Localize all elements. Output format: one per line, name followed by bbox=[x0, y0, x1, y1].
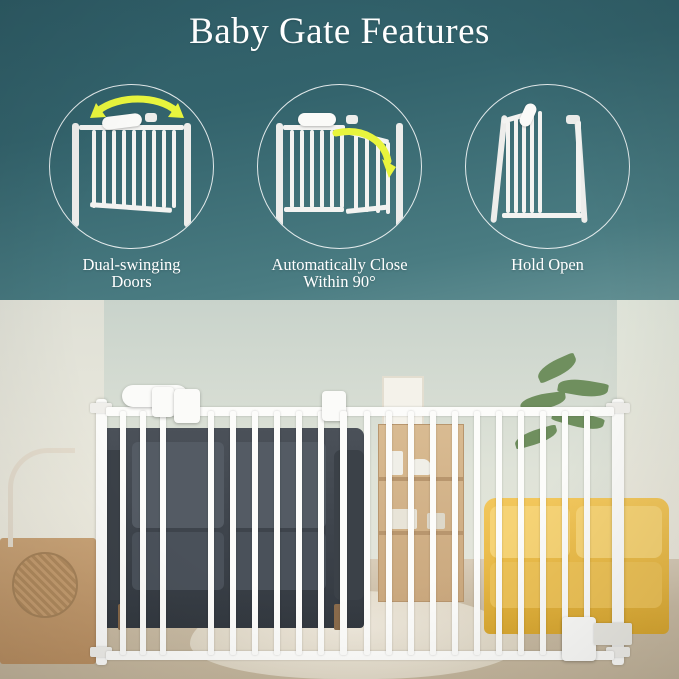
white-baby-gate bbox=[96, 385, 624, 665]
feature-icon-circle-3 bbox=[465, 84, 630, 249]
feature-automatically-close: Automatically Close Within 90° bbox=[247, 84, 433, 294]
gate-vertical-bar bbox=[386, 411, 392, 655]
gate-hold-open-block[interactable] bbox=[562, 617, 596, 661]
feature-caption-line2: Within 90° bbox=[271, 273, 407, 290]
feature-dual-swinging-doors: Dual-swinging Doors bbox=[39, 84, 225, 294]
rattan-cabinet bbox=[0, 538, 96, 664]
gate-vertical-bar bbox=[452, 411, 458, 655]
page-title: Baby Gate Features bbox=[0, 10, 679, 53]
gate-slat-icon bbox=[530, 112, 534, 213]
gate-vertical-bar bbox=[540, 411, 546, 655]
gate-vertical-bar bbox=[208, 411, 214, 655]
gate-vertical-bar bbox=[160, 411, 166, 655]
gate-vertical-bar bbox=[274, 411, 280, 655]
feature-caption-3: Hold Open bbox=[511, 256, 584, 273]
gate-bottom-rail bbox=[106, 651, 614, 660]
feature-icon-circle-1 bbox=[49, 84, 214, 249]
double-curved-arrow-icon bbox=[50, 85, 214, 249]
feature-icon-circle-2 bbox=[257, 84, 422, 249]
product-feature-image: Baby Gate Features bbox=[0, 0, 679, 679]
gate-open-panel-edge-icon bbox=[576, 121, 581, 213]
gate-left-mounting-post bbox=[96, 399, 107, 665]
gate-slat-icon bbox=[538, 111, 542, 213]
gate-handle-stem bbox=[152, 387, 174, 417]
gate-slat-icon bbox=[514, 118, 518, 213]
gate-vertical-bar bbox=[430, 411, 436, 655]
feature-caption-line2: Doors bbox=[82, 273, 180, 290]
curved-arrow-right-icon bbox=[258, 85, 422, 249]
feature-hold-open: Hold Open bbox=[455, 84, 641, 294]
gate-vertical-bar bbox=[140, 411, 146, 655]
gate-vertical-bar bbox=[496, 411, 502, 655]
gate-vertical-bar bbox=[408, 411, 414, 655]
gate-vertical-bar bbox=[364, 411, 370, 655]
gate-center-post bbox=[340, 411, 347, 655]
gate-vertical-bar bbox=[252, 411, 258, 655]
feature-caption-line1: Hold Open bbox=[511, 256, 584, 273]
arc-floor-lamp bbox=[8, 448, 75, 547]
feature-caption-line1: Dual-swinging bbox=[82, 256, 180, 273]
gate-handle-icon bbox=[518, 102, 539, 129]
gate-vertical-bar bbox=[230, 411, 236, 655]
feature-row: Dual-swinging Doors bbox=[0, 84, 679, 299]
cabinet-rattan-panel bbox=[12, 552, 78, 618]
gate-hinge-plate bbox=[594, 623, 632, 645]
gate-vertical-bar bbox=[296, 411, 302, 655]
feature-caption-2: Automatically Close Within 90° bbox=[271, 256, 407, 291]
gate-slat-icon bbox=[506, 121, 510, 213]
living-room-photo bbox=[0, 300, 679, 679]
feature-caption-line1: Automatically Close bbox=[271, 256, 407, 273]
gate-vertical-bar bbox=[120, 411, 126, 655]
gate-vertical-bar bbox=[474, 411, 480, 655]
feature-caption-1: Dual-swinging Doors bbox=[82, 256, 180, 291]
gate-vertical-bar bbox=[318, 411, 324, 655]
gate-bottom-rail-icon bbox=[502, 213, 582, 218]
gate-latch-housing bbox=[174, 389, 200, 423]
gate-slat-icon bbox=[522, 115, 526, 213]
gate-vertical-bar bbox=[518, 411, 524, 655]
